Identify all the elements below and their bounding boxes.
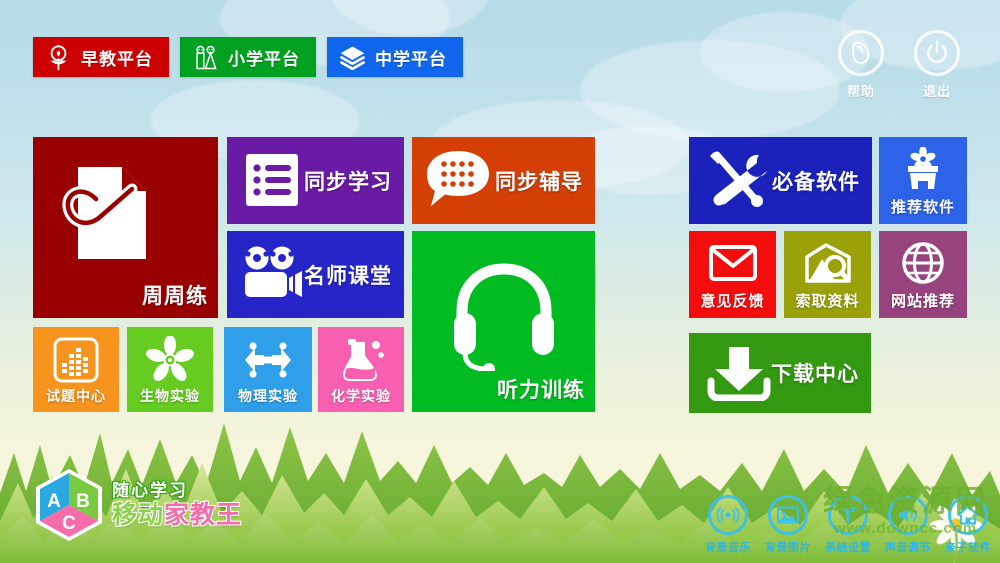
tile-label: 索取资料	[784, 290, 871, 311]
tile-周周练[interactable]: 周周练	[33, 137, 218, 318]
tile-label: 推荐软件	[879, 196, 967, 217]
tile-同步辅导[interactable]: 同步辅导	[412, 137, 595, 224]
help-button[interactable]: 帮助	[833, 30, 889, 100]
app-root: 早教平台 小学平台	[0, 0, 1000, 563]
bottom-item-label: 系统设置	[822, 539, 874, 555]
picture-icon	[768, 495, 808, 535]
logo-tagline: 随心学习	[112, 482, 242, 499]
bottom-item-label: 背景音乐	[702, 539, 754, 555]
power-icon	[914, 30, 960, 76]
tile-网站推荐[interactable]: 网站推荐	[879, 231, 967, 318]
tab-middle-school[interactable]: 中学平台	[327, 37, 463, 77]
tile-名师课堂[interactable]: 名师课堂	[227, 231, 404, 318]
svg-text:C: C	[62, 513, 76, 534]
tile-label: 网站推荐	[879, 290, 967, 311]
speaker-icon	[888, 495, 928, 535]
svg-text:A: A	[47, 491, 61, 512]
bottom-item-背景图片[interactable]: 背景图片	[762, 495, 814, 555]
bottom-item-label: 亲子软件	[942, 539, 994, 555]
home-icon	[948, 495, 988, 535]
tile-推荐软件[interactable]: 推荐软件	[879, 137, 967, 224]
hammer-icon	[828, 495, 868, 535]
logo-title-part2: 家教王	[164, 501, 242, 529]
two-children-icon	[192, 44, 219, 71]
tab-primary-school[interactable]: 小学平台	[180, 37, 316, 77]
abc-cube-icon: A B C	[34, 467, 104, 543]
cloud-decoration	[330, 0, 490, 35]
bottom-item-声音调节[interactable]: 声音调节	[882, 495, 934, 555]
platform-tabs: 早教平台 小学平台	[33, 37, 463, 77]
tab-label: 早教平台	[81, 45, 153, 70]
bottom-item-label: 声音调节	[882, 539, 934, 555]
tile-必备软件[interactable]: 必备软件	[689, 137, 872, 224]
tile-label: 必备软件	[772, 166, 860, 196]
bottom-item-系统设置[interactable]: 系统设置	[822, 495, 874, 555]
system-icons: 帮助 退出	[833, 30, 965, 100]
tile-label: 同步学习	[304, 166, 392, 196]
svg-text:B: B	[76, 491, 90, 512]
tile-label: 周周练	[142, 280, 208, 310]
sound-wave-icon	[708, 495, 748, 535]
tile-意见反馈[interactable]: 意见反馈	[689, 231, 776, 318]
bottom-item-label: 背景图片	[762, 539, 814, 555]
tile-label: 名师课堂	[304, 260, 392, 290]
tile-label: 同步辅导	[495, 166, 583, 196]
books-stack-icon	[339, 44, 366, 71]
bottom-item-背景音乐[interactable]: 背景音乐	[702, 495, 754, 555]
bottom-item-亲子软件[interactable]: 亲子软件	[942, 495, 994, 555]
tab-label: 中学平台	[375, 45, 447, 70]
help-label: 帮助	[833, 81, 889, 100]
tile-索取资料[interactable]: 索取资料	[784, 231, 871, 318]
tile-label: 意见反馈	[689, 290, 776, 311]
app-logo: A B C 随心学习 移动家教王	[34, 467, 242, 543]
exit-label: 退出	[909, 81, 965, 100]
exit-button[interactable]: 退出	[909, 30, 965, 100]
tile-同步学习[interactable]: 同步学习	[227, 137, 404, 224]
sprout-heart-icon	[45, 44, 72, 71]
help-hand-icon	[838, 30, 884, 76]
tab-early-education[interactable]: 早教平台	[33, 37, 169, 77]
logo-title-part1: 移动	[112, 501, 164, 529]
cloud-decoration	[580, 40, 840, 140]
tab-label: 小学平台	[228, 45, 300, 70]
bottom-toolbar: 背景音乐 背景图片 系统设置 声音调节 亲子软件	[702, 495, 994, 555]
